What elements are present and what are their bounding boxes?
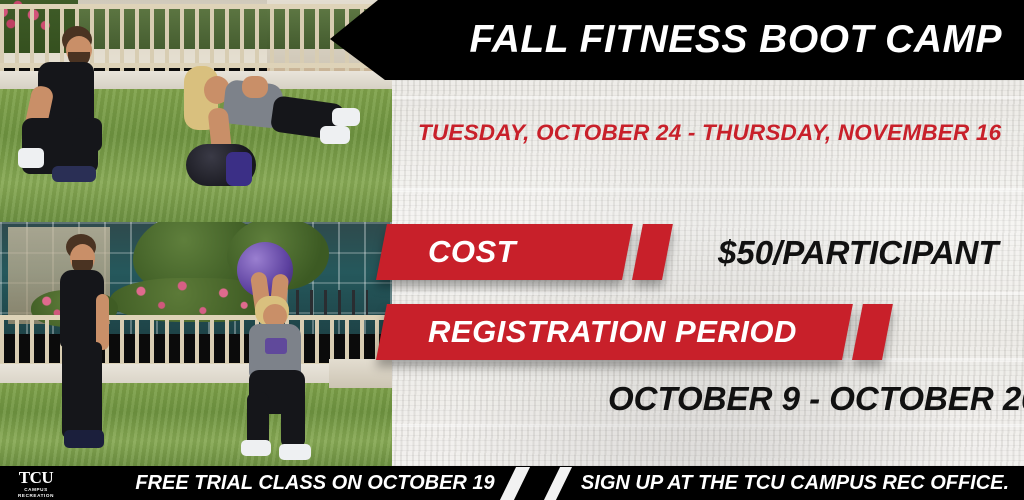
registration-band: REGISTRATION PERIOD xyxy=(376,304,886,360)
figure-trainer-kneeling xyxy=(16,26,102,186)
cost-label: COST xyxy=(428,234,516,270)
free-trial-text: FREE TRIAL CLASS ON OCTOBER 19 xyxy=(120,466,510,500)
logo-wordmark: TCU xyxy=(19,470,53,486)
figure-participant-plank xyxy=(180,60,340,185)
photo-pushup-on-medicine-ball xyxy=(0,0,392,222)
figure-participant-squat xyxy=(225,242,315,458)
logo-subtext-campus: CAMPUS xyxy=(24,487,48,492)
cost-value: $50/PARTICIPANT xyxy=(718,234,999,272)
title-banner: FALL FITNESS BOOT CAMP xyxy=(330,0,1024,80)
signup-text: SIGN UP AT THE TCU CAMPUS REC OFFICE. xyxy=(575,466,1015,500)
registration-label: REGISTRATION PERIOD xyxy=(428,314,797,350)
event-date-range: TUESDAY, OCTOBER 24 - THURSDAY, NOVEMBER… xyxy=(418,120,1018,146)
photo-overhead-squat-throw xyxy=(0,222,392,466)
tcu-campus-recreation-logo: TCU CAMPUS RECREATION xyxy=(9,469,63,499)
logo-subtext-recreation: RECREATION xyxy=(18,493,54,498)
figure-trainer-standing xyxy=(58,234,110,456)
page-title: FALL FITNESS BOOT CAMP xyxy=(470,18,1024,62)
footer-bar: TCU CAMPUS RECREATION FREE TRIAL CLASS O… xyxy=(0,466,1024,500)
registration-value: OCTOBER 9 - OCTOBER 20 xyxy=(608,380,1024,418)
cost-band: COST xyxy=(376,224,666,280)
photo-column xyxy=(0,0,392,466)
poster: FALL FITNESS BOOT CAMP TUESDAY, OCTOBER … xyxy=(0,0,1024,500)
